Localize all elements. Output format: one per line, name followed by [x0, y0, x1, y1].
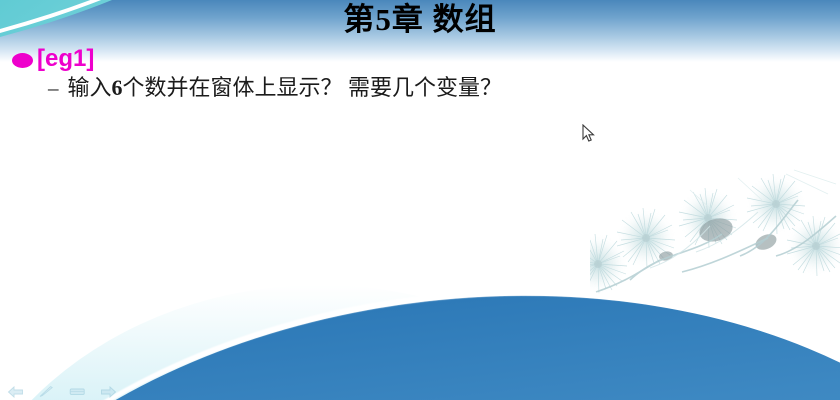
arrow-left-icon[interactable]: [6, 385, 24, 398]
slide-title: 第5章 数组: [0, 1, 840, 39]
bullet-level2-text-part2: 个数并在窗体上显示？ 需要几个变量？: [123, 75, 503, 100]
dandelion-seed-watermark: [590, 160, 840, 310]
pen-icon[interactable]: [37, 385, 55, 398]
bullet-level1: [eg1]: [12, 46, 94, 72]
presentation-slide: 第5章 数组 [eg1] – 输入6个数并在窗体上显示？ 需要几个变量？: [0, 0, 840, 400]
bullet-level2: – 输入6个数并在窗体上显示？ 需要几个变量？: [48, 74, 502, 102]
bullet-level2-text-part1: 输入: [68, 75, 112, 100]
bullet-level2-label: 输入6个数并在窗体上显示？ 需要几个变量？: [68, 74, 503, 102]
filled-ellipse-bullet-icon: [12, 53, 33, 68]
bullet-level1-label: [eg1]: [37, 46, 94, 72]
en-dash-bullet-icon: –: [48, 76, 59, 101]
mouse-arrow-cursor: [582, 124, 595, 143]
rectangle-icon[interactable]: [68, 385, 86, 398]
slideshow-toolbar[interactable]: [6, 385, 117, 398]
bullet-level2-text-bold: 6: [112, 75, 123, 100]
arrow-right-icon[interactable]: [99, 385, 117, 398]
